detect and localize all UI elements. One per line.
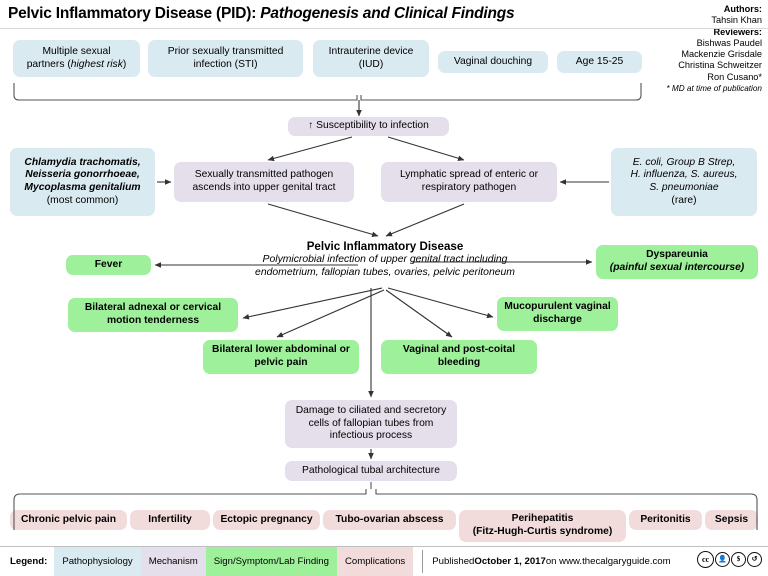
publication-info: Published October 1, 2017 on www.thecalg… bbox=[432, 547, 670, 576]
sign-line1: Dyspareunia bbox=[646, 249, 708, 260]
complication-peritonitis: Peritonitis bbox=[629, 510, 702, 530]
risk-factor-vaginal-douching: Vaginal douching bbox=[438, 51, 548, 73]
sign-label: Mucopurulent vaginal discharge bbox=[503, 301, 612, 326]
node-enteric-pathogens: E. coli, Group B Strep, H. influenza, S.… bbox=[611, 148, 757, 216]
complication-line2: (Fitz-Hugh-Curtis syndrome) bbox=[473, 526, 613, 537]
complication-line1: Perihepatitis bbox=[512, 513, 574, 524]
complication-sepsis: Sepsis bbox=[705, 510, 758, 530]
sti-ascends-label: Sexually transmitted pathogen ascends in… bbox=[180, 169, 348, 194]
risk-factor-line2-post: ) bbox=[123, 59, 126, 70]
sign-label: Vaginal and post-coital bleeding bbox=[387, 344, 531, 369]
title-subtitle: Pathogenesis and Clinical Findings bbox=[260, 5, 514, 22]
pathogen-line2: H. influenza, S. aureus, bbox=[630, 169, 737, 180]
complication-label: Tubo-ovarian abscess bbox=[336, 514, 444, 527]
risk-factor-prior-sti: Prior sexually transmitted infection (ST… bbox=[148, 40, 303, 77]
reviewer-name: Bishwas Paudel bbox=[602, 38, 762, 49]
complication-infertility: Infertility bbox=[130, 510, 210, 530]
risk-factor-multiple-partners: Multiple sexual partners (highest risk) bbox=[13, 40, 140, 77]
sign-dyspareunia: Dyspareunia (painful sexual intercourse) bbox=[596, 245, 758, 279]
cc-nc-icon: $ bbox=[731, 552, 746, 567]
complication-label: Sepsis bbox=[715, 514, 748, 527]
header-divider bbox=[0, 28, 768, 29]
node-pelvic-inflammatory-disease: Pelvic Inflammatory Disease Polymicrobia… bbox=[185, 240, 585, 279]
pathogen-line2: Neisseria gonorrhoeae, bbox=[25, 169, 139, 180]
node-tubal-damage: Damage to ciliated and secretory cells o… bbox=[285, 400, 457, 448]
risk-factor-line1: Prior sexually transmitted bbox=[168, 46, 284, 57]
pathogen-line4: (most common) bbox=[47, 195, 119, 206]
tubal-damage-label: Damage to ciliated and secretory cells o… bbox=[291, 405, 451, 443]
title-main: Pelvic Inflammatory Disease (PID): bbox=[8, 5, 256, 22]
sign-fever: Fever bbox=[66, 255, 151, 275]
cc-icon: cc bbox=[697, 551, 714, 568]
reviewer-name: Ron Cusano* bbox=[602, 72, 762, 83]
creative-commons-license[interactable]: cc 👤 $ ↺ bbox=[697, 551, 762, 568]
sign-lower-abdominal-pain: Bilateral lower abdominal or pelvic pain bbox=[203, 340, 359, 374]
complication-label: Chronic pelvic pain bbox=[21, 514, 116, 527]
legend-item-label: Mechanism bbox=[149, 556, 198, 567]
legend-item-mechanism: Mechanism bbox=[141, 547, 206, 576]
cc-sa-icon: ↺ bbox=[747, 552, 762, 567]
authors-credits: Authors: Tahsin Khan Reviewers: Bishwas … bbox=[602, 4, 762, 94]
authors-label: Authors: bbox=[602, 4, 762, 15]
risk-factor-iud: Intrauterine device (IUD) bbox=[313, 40, 429, 77]
complication-perihepatitis: Perihepatitis (Fitz-Hugh-Curtis syndrome… bbox=[459, 510, 626, 542]
legend-item-pathophysiology: Pathophysiology bbox=[54, 547, 140, 576]
sign-label: Fever bbox=[95, 259, 122, 272]
cc-by-icon: 👤 bbox=[715, 552, 730, 567]
sign-line2: (painful sexual intercourse) bbox=[610, 262, 744, 273]
pid-sub-line2: endometrium, fallopian tubes, ovaries, p… bbox=[185, 266, 585, 279]
legend-bar: Legend: Pathophysiology Mechanism Sign/S… bbox=[0, 547, 768, 576]
author-name: Tahsin Khan bbox=[602, 15, 762, 26]
risk-factor-line1: Intrauterine device bbox=[329, 46, 414, 57]
node-pathological-tubal-architecture: Pathological tubal architecture bbox=[285, 461, 457, 481]
pid-heading: Pelvic Inflammatory Disease bbox=[185, 240, 585, 253]
page-title: Pelvic Inflammatory Disease (PID): Patho… bbox=[8, 5, 514, 23]
complication-chronic-pelvic-pain: Chronic pelvic pain bbox=[10, 510, 127, 530]
diagram-page: Pelvic Inflammatory Disease (PID): Patho… bbox=[0, 0, 768, 576]
risk-factor-emphasis: highest risk bbox=[71, 59, 123, 70]
node-lymphatic-spread: Lymphatic spread of enteric or respirato… bbox=[381, 162, 557, 202]
pathogen-line4: (rare) bbox=[671, 195, 696, 206]
tubal-architecture-label: Pathological tubal architecture bbox=[302, 465, 440, 478]
node-sti-ascends: Sexually transmitted pathogen ascends in… bbox=[174, 162, 354, 202]
published-prefix: Published bbox=[432, 556, 474, 567]
complication-label: Ectopic pregnancy bbox=[220, 514, 312, 527]
risk-factor-line1: Vaginal douching bbox=[454, 56, 532, 69]
complication-label: Peritonitis bbox=[640, 514, 690, 527]
complication-label: Infertility bbox=[148, 514, 191, 527]
pathogen-line3: Mycoplasma genitalium bbox=[24, 182, 140, 193]
legend-item-sign-symptom: Sign/Symptom/Lab Finding bbox=[206, 547, 337, 576]
published-date: October 1, 2017 bbox=[474, 556, 545, 567]
published-suffix: on www.thecalgaryguide.com bbox=[546, 556, 671, 567]
sign-label: Bilateral lower abdominal or pelvic pain bbox=[209, 344, 353, 369]
risk-factor-line1: Multiple sexual bbox=[42, 46, 110, 57]
node-susceptibility: ↑ Susceptibility to infection bbox=[288, 117, 449, 136]
complication-ectopic-pregnancy: Ectopic pregnancy bbox=[213, 510, 320, 530]
pid-sub-line1: Polymicrobial infection of upper genital… bbox=[185, 253, 585, 266]
sign-label: Bilateral adnexal or cervical motion ten… bbox=[74, 302, 232, 327]
pathogen-line1: E. coli, Group B Strep, bbox=[633, 157, 735, 168]
complication-tubo-ovarian-abscess: Tubo-ovarian abscess bbox=[323, 510, 456, 530]
legend-item-label: Pathophysiology bbox=[62, 556, 132, 567]
authors-footnote: * MD at time of publication bbox=[602, 83, 762, 94]
sign-mucopurulent-discharge: Mucopurulent vaginal discharge bbox=[497, 297, 618, 331]
risk-factor-line2: (IUD) bbox=[359, 59, 384, 70]
pathogen-line1: Chlamydia trachomatis, bbox=[24, 157, 140, 168]
node-sti-pathogens: Chlamydia trachomatis, Neisseria gonorrh… bbox=[10, 148, 155, 216]
risk-factor-age: Age 15-25 bbox=[557, 51, 642, 73]
legend-item-label: Complications bbox=[345, 556, 405, 567]
legend-label: Legend: bbox=[0, 547, 54, 576]
risk-factor-line1: Age 15-25 bbox=[576, 56, 624, 69]
lymphatic-spread-label: Lymphatic spread of enteric or respirato… bbox=[387, 169, 551, 194]
susceptibility-label: ↑ Susceptibility to infection bbox=[308, 120, 429, 133]
sign-adnexal-cervical-motion-tenderness: Bilateral adnexal or cervical motion ten… bbox=[68, 298, 238, 332]
risk-factor-line2-pre: partners ( bbox=[27, 59, 71, 70]
legend-item-label: Sign/Symptom/Lab Finding bbox=[214, 556, 329, 567]
legend-item-complications: Complications bbox=[337, 547, 413, 576]
legend-separator bbox=[422, 550, 423, 573]
risk-factor-line2: infection (STI) bbox=[193, 59, 257, 70]
pathogen-line3: S. pneumoniae bbox=[649, 182, 718, 193]
sign-vaginal-postcoital-bleeding: Vaginal and post-coital bleeding bbox=[381, 340, 537, 374]
